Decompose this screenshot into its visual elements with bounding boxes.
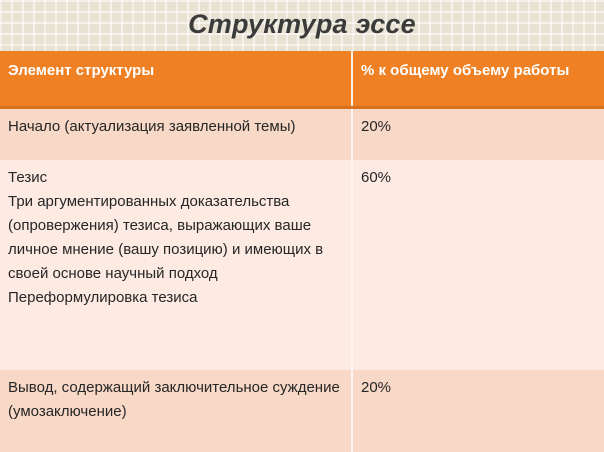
table-cell-percent: 20%: [352, 370, 604, 452]
table-cell-element: Тезис Три аргументированных доказательст…: [0, 160, 352, 370]
table-header-row: Элемент структуры % к общему объему рабо…: [0, 51, 604, 107]
column-header-percent-label: % к общему объему работы: [361, 60, 594, 82]
table-cell-element-text: Начало (актуализация заявленной темы): [8, 115, 341, 139]
table-cell-percent: 60%: [352, 160, 604, 370]
column-header-percent: % к общему объему работы: [352, 51, 604, 107]
slide-canvas: Структура эссе Элемент структуры % к общ…: [0, 0, 604, 452]
essay-structure-table: Элемент структуры % к общему объему рабо…: [0, 51, 604, 452]
table-cell-element-text: Тезис Три аргументированных доказательст…: [8, 166, 341, 310]
page-title: Структура эссе: [0, 4, 604, 44]
table-cell-percent-text: 20%: [361, 376, 594, 400]
table-row: Начало (актуализация заявленной темы) 20…: [0, 107, 604, 159]
column-header-element-label: Элемент структуры: [8, 60, 341, 82]
table-cell-element: Вывод, содержащий заключительное суждени…: [0, 370, 352, 452]
table-cell-percent: 20%: [352, 107, 604, 159]
table-row: Вывод, содержащий заключительное суждени…: [0, 370, 604, 452]
table-cell-element: Начало (актуализация заявленной темы): [0, 107, 352, 159]
table-cell-element-text: Вывод, содержащий заключительное суждени…: [8, 376, 341, 424]
table-cell-percent-text: 60%: [361, 166, 594, 190]
table-row: Тезис Три аргументированных доказательст…: [0, 160, 604, 370]
column-header-element: Элемент структуры: [0, 51, 352, 107]
table-cell-percent-text: 20%: [361, 115, 594, 139]
